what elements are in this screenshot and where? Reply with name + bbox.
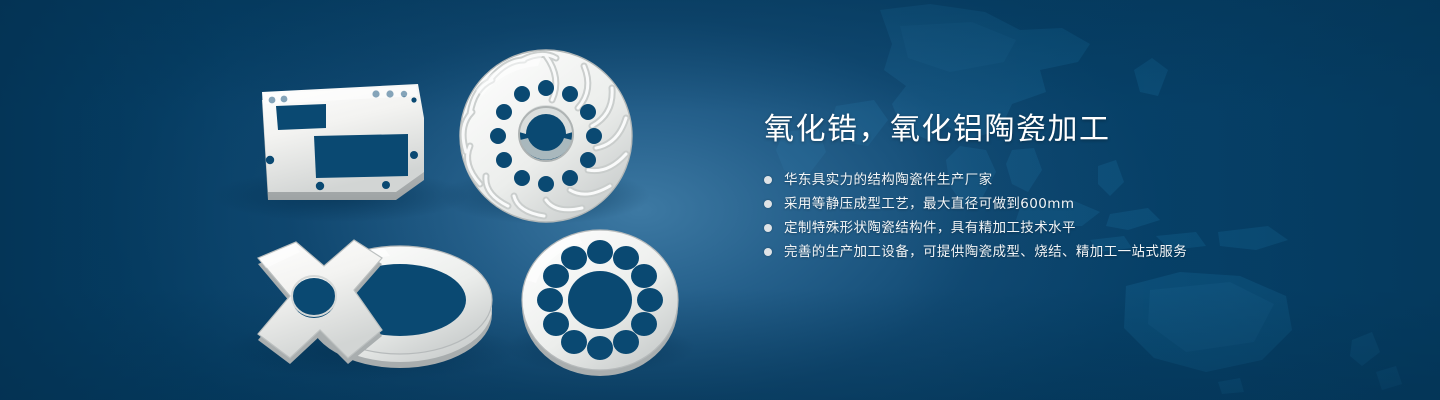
feature-text: 完善的生产加工设备，可提供陶瓷成型、烧结、精加工一站式服务: [784, 240, 1187, 264]
bullet-dot-icon: [764, 248, 772, 256]
feature-text: 华东具实力的结构陶瓷件生产厂家: [784, 168, 993, 192]
page-title: 氧化锆，氧化铝陶瓷加工: [764, 108, 1404, 152]
feature-list: 华东具实力的结构陶瓷件生产厂家 采用等静压成型工艺，最大直径可做到600mm 定…: [764, 168, 1404, 264]
feature-text: 采用等静压成型工艺，最大直径可做到600mm: [784, 192, 1074, 216]
ceramic-impeller-part: [460, 50, 632, 222]
ceramic-products-image: [0, 0, 760, 400]
hero-banner: 氧化锆，氧化铝陶瓷加工 华东具实力的结构陶瓷件生产厂家 采用等静压成型工艺，最大…: [0, 0, 1440, 400]
bullet-dot-icon: [764, 224, 772, 232]
list-item: 定制特殊形状陶瓷结构件，具有精加工技术水平: [764, 216, 1404, 240]
feature-text: 定制特殊形状陶瓷结构件，具有精加工技术水平: [784, 216, 1076, 240]
banner-copy: 氧化锆，氧化铝陶瓷加工 华东具实力的结构陶瓷件生产厂家 采用等静压成型工艺，最大…: [764, 108, 1404, 264]
bullet-dot-icon: [764, 176, 772, 184]
list-item: 完善的生产加工设备，可提供陶瓷成型、烧结、精加工一站式服务: [764, 240, 1404, 264]
list-item: 华东具实力的结构陶瓷件生产厂家: [764, 168, 1404, 192]
ceramic-perforated-disc-part: [522, 230, 678, 376]
list-item: 采用等静压成型工艺，最大直径可做到600mm: [764, 192, 1404, 216]
ceramic-plate-part: [262, 84, 424, 200]
bullet-dot-icon: [764, 200, 772, 208]
